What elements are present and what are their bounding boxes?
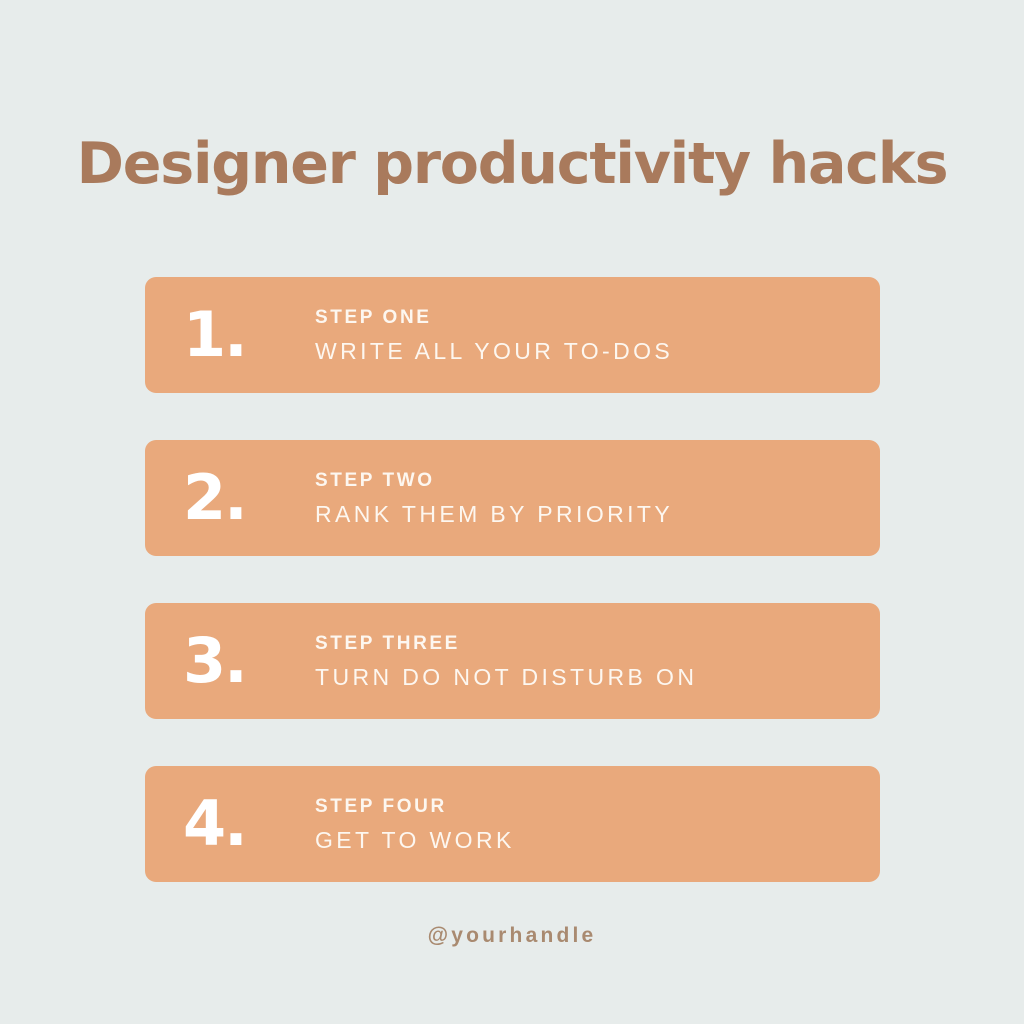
list-item[interactable]: 4. STEP FOUR GET TO WORK [145, 766, 880, 882]
step-description: WRITE ALL YOUR TO-DOS [315, 337, 856, 365]
social-handle[interactable]: @yourhandle [0, 921, 1024, 951]
list-item[interactable]: 3. STEP THREE TURN DO NOT DISTURB ON [145, 603, 880, 719]
steps-list: 1. STEP ONE WRITE ALL YOUR TO-DOS 2. STE… [145, 277, 880, 882]
step-text-group: STEP ONE WRITE ALL YOUR TO-DOS [315, 305, 880, 365]
step-text-group: STEP TWO RANK THEM BY PRIORITY [315, 468, 880, 528]
step-label: STEP THREE [315, 631, 856, 657]
step-number: 1. [145, 304, 315, 366]
step-number: 4. [145, 793, 315, 855]
poster-canvas: Designer productivity hacks 1. STEP ONE … [0, 0, 1024, 1024]
step-label: STEP FOUR [315, 794, 856, 820]
step-text-group: STEP FOUR GET TO WORK [315, 794, 880, 854]
step-description: TURN DO NOT DISTURB ON [315, 663, 856, 691]
step-label: STEP TWO [315, 468, 856, 494]
step-description: GET TO WORK [315, 826, 856, 854]
step-label: STEP ONE [315, 305, 856, 331]
list-item[interactable]: 2. STEP TWO RANK THEM BY PRIORITY [145, 440, 880, 556]
list-item[interactable]: 1. STEP ONE WRITE ALL YOUR TO-DOS [145, 277, 880, 393]
page-title: Designer productivity hacks [0, 128, 1024, 200]
step-text-group: STEP THREE TURN DO NOT DISTURB ON [315, 631, 880, 691]
step-number: 2. [145, 467, 315, 529]
step-description: RANK THEM BY PRIORITY [315, 500, 856, 528]
step-number: 3. [145, 630, 315, 692]
